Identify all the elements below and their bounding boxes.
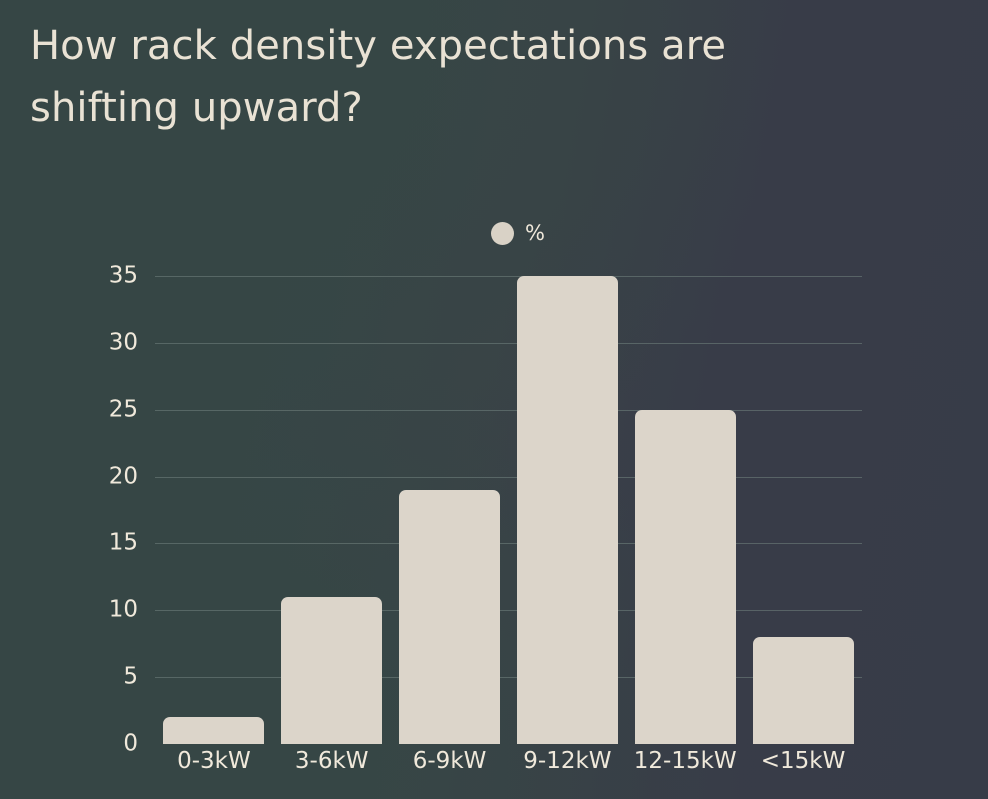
bar[interactable] [399, 490, 500, 744]
x-axis-tick: 9-12kW [508, 750, 626, 773]
bar-slot [155, 276, 273, 744]
y-axis-tick-label: 15 [109, 532, 138, 555]
bar[interactable] [753, 637, 854, 744]
x-axis-tick: <15kW [744, 750, 862, 773]
y-axis-tick-label: 20 [109, 465, 138, 488]
y-axis-tick-label: 5 [123, 666, 138, 689]
bar-slot [626, 276, 744, 744]
y-axis-tick-label: 30 [109, 331, 138, 354]
x-axis-tick-label: 3-6kW [295, 748, 369, 774]
chart-legend: % [0, 222, 988, 245]
x-axis-tick-label: 6-9kW [413, 748, 487, 774]
x-axis-tick: 3-6kW [273, 750, 391, 773]
x-axis-tick-label: 12-15kW [634, 748, 737, 774]
page-title: How rack density expectations are shifti… [30, 15, 860, 140]
bar-slot [508, 276, 626, 744]
bar-slot [744, 276, 862, 744]
x-axis-tick: 6-9kW [391, 750, 509, 773]
bar[interactable] [281, 597, 382, 744]
legend-item-label: % [525, 223, 545, 244]
y-axis-tick-label: 0 [123, 733, 138, 756]
x-axis-tick-label: <15kW [761, 748, 846, 774]
chart-plot-area: 05101520253035 [155, 276, 862, 744]
x-axis-tick-label: 0-3kW [177, 748, 251, 774]
x-axis-tick-label: 9-12kW [523, 748, 611, 774]
bar-slot [391, 276, 509, 744]
bar[interactable] [517, 276, 618, 744]
circle-marker-icon [491, 222, 514, 245]
y-axis-tick-label: 35 [109, 265, 138, 288]
bar-slot [273, 276, 391, 744]
y-axis-tick-label: 10 [109, 599, 138, 622]
chart-bars [155, 276, 862, 744]
y-axis-tick-label: 25 [109, 398, 138, 421]
bar[interactable] [635, 410, 736, 744]
x-axis-tick: 0-3kW [155, 750, 273, 773]
slide-canvas: How rack density expectations are shifti… [0, 0, 988, 799]
legend-item-percent: % [491, 222, 545, 245]
chart-x-axis: 0-3kW3-6kW6-9kW9-12kW12-15kW<15kW [155, 750, 862, 773]
bar[interactable] [163, 717, 264, 744]
x-axis-tick: 12-15kW [626, 750, 744, 773]
